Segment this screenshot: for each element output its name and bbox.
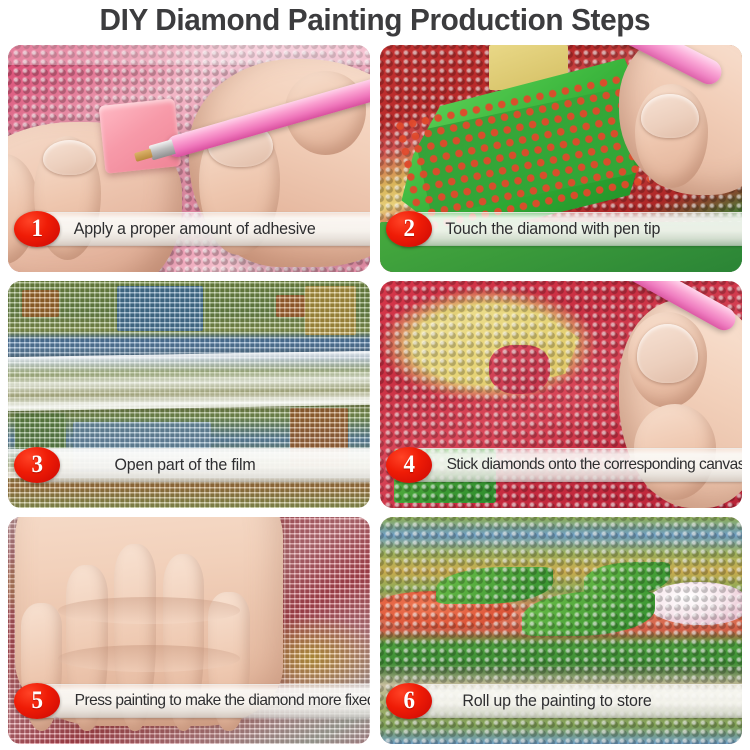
step-badge-6: 6	[386, 683, 432, 719]
step-number: 3	[31, 452, 43, 477]
step-badge-5: 5	[14, 683, 60, 719]
step-caption-text: Stick diamonds onto the corresponding ca…	[447, 456, 742, 474]
steps-grid: 1 Apply a proper amount of adhesive	[0, 40, 750, 750]
step-panel-4[interactable]: 4 Stick diamonds onto the corresponding …	[380, 281, 742, 508]
step-panel-6[interactable]: 6 Roll up the painting to store	[380, 517, 742, 744]
step-caption-text: Press painting to make the diamond more …	[75, 692, 370, 710]
step-panel-3[interactable]: 3 Open part of the film	[8, 281, 370, 508]
step-number: 4	[403, 452, 415, 477]
step-caption-text: Touch the diamond with pen tip	[445, 220, 660, 239]
page-header: DIY Diamond Painting Production Steps	[0, 0, 750, 40]
step-caption-5: 5 Press painting to make the diamond mor…	[8, 684, 370, 718]
step-badge-3: 3	[14, 447, 60, 483]
step-caption-text: Roll up the painting to store	[385, 692, 728, 711]
step-number: 5	[31, 688, 43, 713]
step-caption-text: Apply a proper amount of adhesive	[74, 220, 316, 239]
step-number: 6	[403, 688, 415, 713]
step-caption-6: 6 Roll up the painting to store	[380, 684, 742, 718]
step-caption-1: 1 Apply a proper amount of adhesive	[8, 212, 370, 246]
step-caption-4: 4 Stick diamonds onto the corresponding …	[380, 448, 742, 482]
step-caption-3: 3 Open part of the film	[8, 448, 370, 482]
infographic-page: DIY Diamond Painting Production Steps	[0, 0, 750, 750]
step-number: 2	[403, 216, 415, 241]
step-caption-2: 2 Touch the diamond with pen tip	[380, 212, 742, 246]
step-number: 1	[31, 216, 43, 241]
step-badge-2: 2	[386, 211, 432, 247]
step-badge-4: 4	[386, 447, 432, 483]
step-caption-text: Open part of the film	[13, 456, 356, 475]
protective-film	[8, 350, 370, 411]
step-panel-5[interactable]: 5 Press painting to make the diamond mor…	[8, 517, 370, 744]
page-title: DIY Diamond Painting Production Steps	[100, 2, 651, 38]
step-panel-1[interactable]: 1 Apply a proper amount of adhesive	[8, 45, 370, 272]
step-badge-1: 1	[14, 211, 60, 247]
step-panel-2[interactable]: 2 Touch the diamond with pen tip	[380, 45, 742, 272]
adhesive-square	[99, 98, 182, 174]
